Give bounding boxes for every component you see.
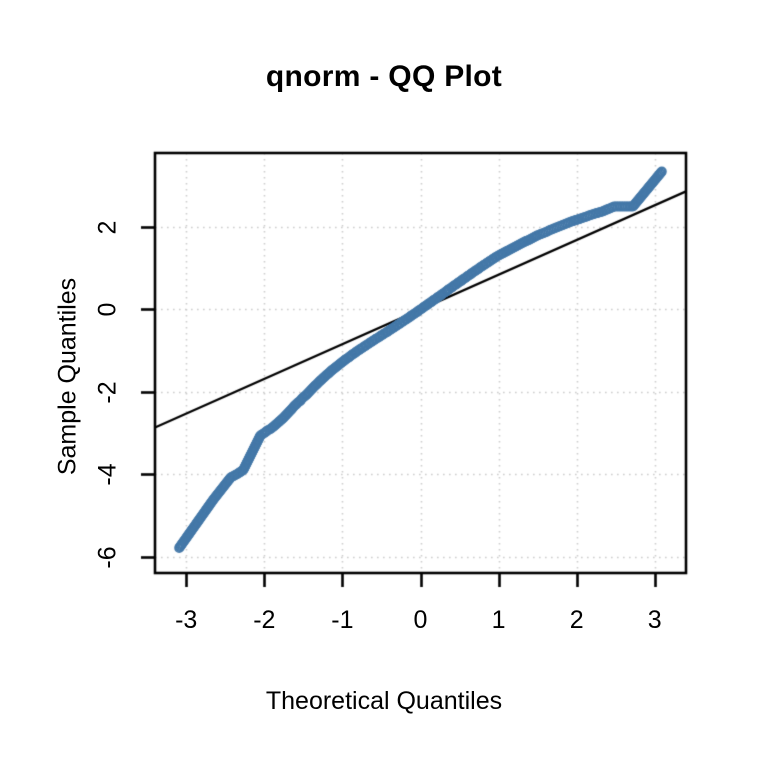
y-tick-label: -6 <box>94 527 123 587</box>
x-tick-label: -1 <box>312 606 372 635</box>
x-tick-label: 0 <box>391 606 451 635</box>
y-axis-label: Sample Quantiles <box>54 217 83 537</box>
x-axis-label: Theoretical Quantiles <box>0 687 768 716</box>
x-tick-label: -2 <box>234 606 294 635</box>
x-tick-label: 1 <box>469 606 529 635</box>
x-tick-label: 2 <box>547 606 607 635</box>
qq-plot-figure: qnorm - QQ Plot Theoretical Quantiles Sa… <box>0 0 768 768</box>
y-tick-label: 2 <box>94 198 123 258</box>
y-tick-label: -2 <box>94 362 123 422</box>
y-tick-label: 0 <box>94 280 123 340</box>
y-tick-label: -4 <box>94 445 123 505</box>
x-tick-label: -3 <box>156 606 216 635</box>
x-tick-label: 3 <box>625 606 685 635</box>
